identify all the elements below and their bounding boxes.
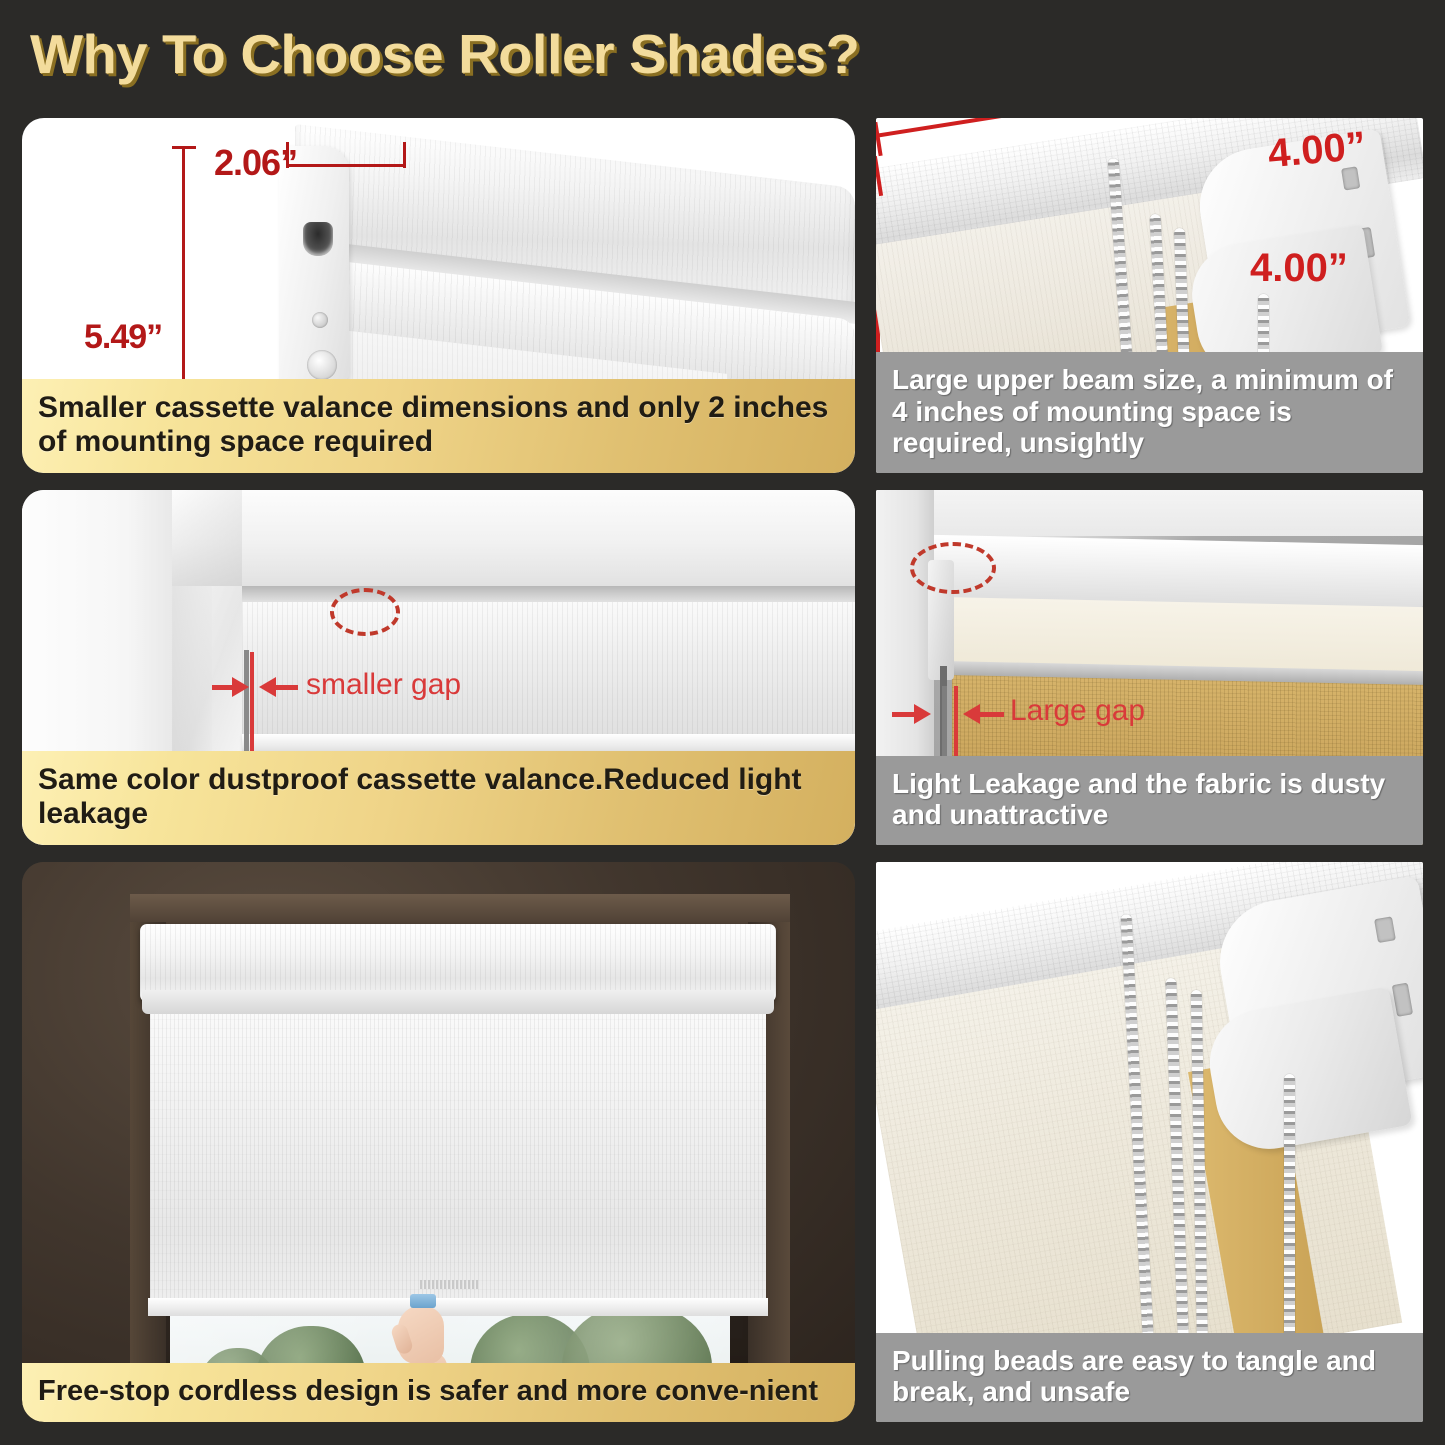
gap-arrow-right-icon [232, 677, 249, 697]
panel-caption: Large upper beam size, a minimum of 4 in… [876, 352, 1423, 473]
width-dimension-line [286, 164, 406, 167]
beam-width-label: 4.00” [1266, 124, 1367, 177]
panel-caption: Pulling beads are easy to tangle and bre… [876, 1333, 1423, 1422]
bracket-slot [1374, 916, 1396, 943]
beam-width-tick-left [876, 122, 883, 156]
grip-tab [410, 1294, 436, 1308]
panel-large-beam: 4.00” 4.00” Large upper beam size, a min… [876, 118, 1423, 473]
gap-arrow-stem-right [276, 685, 298, 690]
panel-caption: Same color dustproof cassette valance.Re… [22, 751, 855, 845]
panel-dustproof-valance: smaller gap Same color dustproof cassett… [22, 490, 855, 845]
cordless-design-photo [22, 862, 855, 1422]
page-title: Why To Choose Roller Shades? [30, 22, 859, 86]
window-frame-top [172, 490, 855, 586]
panel-caption: Free-stop cordless design is safer and m… [22, 1363, 855, 1422]
gap-callout-label: smaller gap [306, 668, 461, 702]
gap-callout-label: Large gap [1010, 694, 1145, 728]
screw-icon [307, 350, 337, 380]
highlight-circle-icon [330, 588, 400, 636]
panel-cassette-dimensions: 5.49” 2.06” Smaller cassette valance dim… [22, 118, 855, 473]
panel-pulling-beads: Pulling beads are easy to tangle and bre… [876, 862, 1423, 1422]
panel-caption: Smaller cassette valance dimensions and … [22, 379, 855, 473]
width-dimension-label: 2.06” [214, 142, 297, 184]
valance-slot [303, 222, 333, 256]
beam-height-label: 4.00” [1250, 246, 1348, 291]
screw-icon [312, 312, 328, 328]
window-lintel [130, 894, 790, 928]
gap-arrow-right-icon [914, 704, 931, 724]
roller-shade-fabric [150, 1008, 766, 1308]
gap-arrow-left-icon [963, 704, 980, 724]
gap-arrow-stem-right [980, 712, 1004, 717]
highlight-circle-icon [910, 542, 996, 594]
panel-cordless-design: Free-stop cordless design is safer and m… [22, 862, 855, 1422]
shade-bottom-rail [148, 1298, 768, 1316]
width-dimension-tick-right [403, 142, 406, 168]
panel-light-leakage: Large gap Light Leakage and the fabric i… [876, 490, 1423, 845]
ceiling-board [876, 490, 1423, 536]
bead-chain [1284, 1074, 1295, 1366]
gap-arrow-left-icon [259, 677, 276, 697]
bracket-slot [1392, 983, 1413, 1017]
panel-caption: Light Leakage and the fabric is dusty an… [876, 756, 1423, 845]
valance-lip [142, 990, 774, 1014]
height-dimension-tick-top [172, 146, 196, 149]
beam-width-dimension-line [877, 118, 1075, 138]
gap-arrow-stem-left [892, 712, 916, 717]
brand-mark [420, 1280, 478, 1289]
gap-arrow-stem-left [212, 685, 234, 690]
height-dimension-label: 5.49” [84, 318, 162, 357]
